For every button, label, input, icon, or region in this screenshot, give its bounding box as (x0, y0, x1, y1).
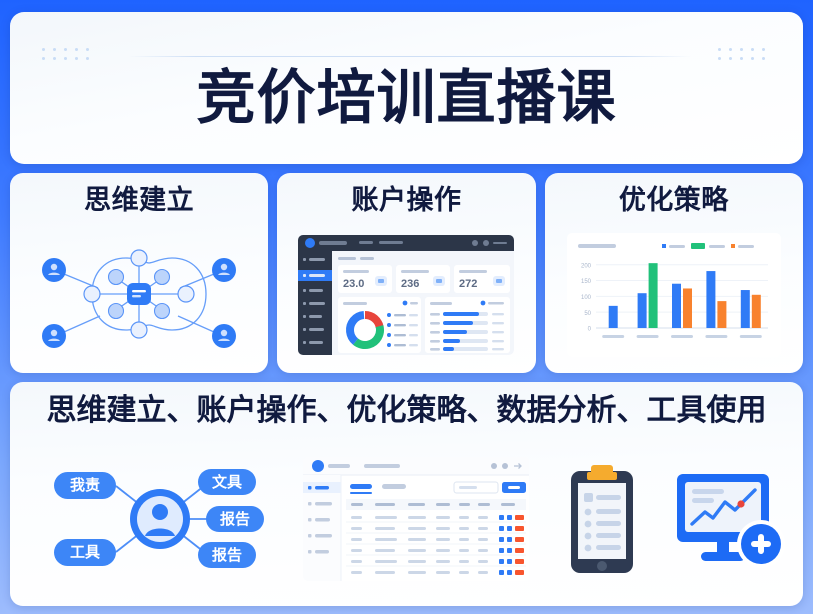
chart-legend-swatch (662, 244, 666, 248)
feature-card-mindset[interactable]: 思维建立 (10, 173, 268, 373)
brand-logo-icon (312, 460, 324, 472)
dot-grid-right-decor (718, 48, 773, 66)
table-mockup (302, 456, 530, 582)
chart-x-tick-label (602, 335, 624, 338)
dot-grid-left-decor (42, 48, 97, 66)
chart-y-tick-label: 150 (581, 279, 592, 285)
feature-card-optimization[interactable]: 优化策略 050100150200 (545, 173, 803, 373)
chart-bar (609, 305, 618, 327)
mindmap-bubble-label-1: 工具 (70, 544, 100, 561)
monitor-line-chart-icon (673, 464, 789, 574)
header-card: 竞价培训直播课 (10, 12, 803, 164)
tab-paused-accounts (382, 484, 406, 489)
feature-title-optimization: 优化策略 (619, 185, 729, 216)
mindmap-bubble-label-0: 我责 (70, 476, 100, 494)
svg-text:272: 272 (459, 278, 477, 290)
feature-card-account-ops[interactable]: 账户操作 (277, 173, 535, 373)
bar-chart: 050100150200 (545, 216, 803, 373)
dashboard-mockup: 23.0 236 272 (277, 216, 535, 373)
poster-root: 竞价培训直播课 思维建立 (0, 0, 813, 614)
page-title: 竞价培训直播课 (10, 69, 803, 128)
chart-bar (706, 271, 715, 328)
chart-title-placeholder (578, 244, 616, 248)
chart-x-tick-label (740, 335, 762, 338)
mindmap-bubble-label-4: 报告 (212, 546, 242, 564)
mindmap-diagram: 我责 工具 文具 报告 报告 (24, 460, 270, 578)
chart-x-tick-label (671, 335, 693, 338)
mindmap-bubble-label-2: 文具 (212, 473, 242, 491)
banner-card: 思维建立、账户操作、优化策略、数据分析、工具使用 我责 工 (10, 382, 803, 606)
mindmap-bubble-label-3: 报告 (220, 510, 250, 528)
chart-y-tick-label: 200 (581, 263, 592, 269)
chart-bar (752, 294, 761, 327)
chart-x-tick-label (636, 335, 658, 338)
chart-bar (648, 263, 657, 328)
chart-y-tick-label: 100 (581, 294, 592, 300)
chart-y-tick-label: 50 (584, 310, 591, 316)
chart-legend-label (669, 245, 685, 248)
feature-title-mindset: 思维建立 (84, 185, 194, 216)
tab-all-accounts (350, 484, 372, 489)
chart-legend-swatch (691, 243, 705, 249)
gear-icon (491, 463, 497, 469)
chart-x-tick-label (705, 335, 727, 338)
feature-cards-row: 思维建立 (10, 173, 803, 373)
feature-title-account-ops: 账户操作 (351, 185, 461, 216)
svg-text:23.0: 23.0 (343, 278, 364, 290)
network-node-diagram-icon (10, 216, 268, 373)
chart-legend-swatch (731, 244, 735, 248)
banner-art-row: 我责 工具 文具 报告 报告 (10, 427, 803, 606)
banner-title: 思维建立、账户操作、优化策略、数据分析、工具使用 (10, 394, 803, 427)
chart-legend-label (709, 245, 725, 248)
chart-bar (717, 301, 726, 328)
chart-bar (683, 288, 692, 328)
chart-legend-label (738, 245, 754, 248)
bell-icon (502, 463, 508, 469)
chart-bar (637, 293, 646, 328)
svg-text:236: 236 (401, 278, 419, 290)
header-divider (128, 56, 691, 57)
clipboard-checklist-icon (563, 461, 641, 577)
chart-bar (741, 290, 750, 328)
chart-bar (672, 283, 681, 327)
